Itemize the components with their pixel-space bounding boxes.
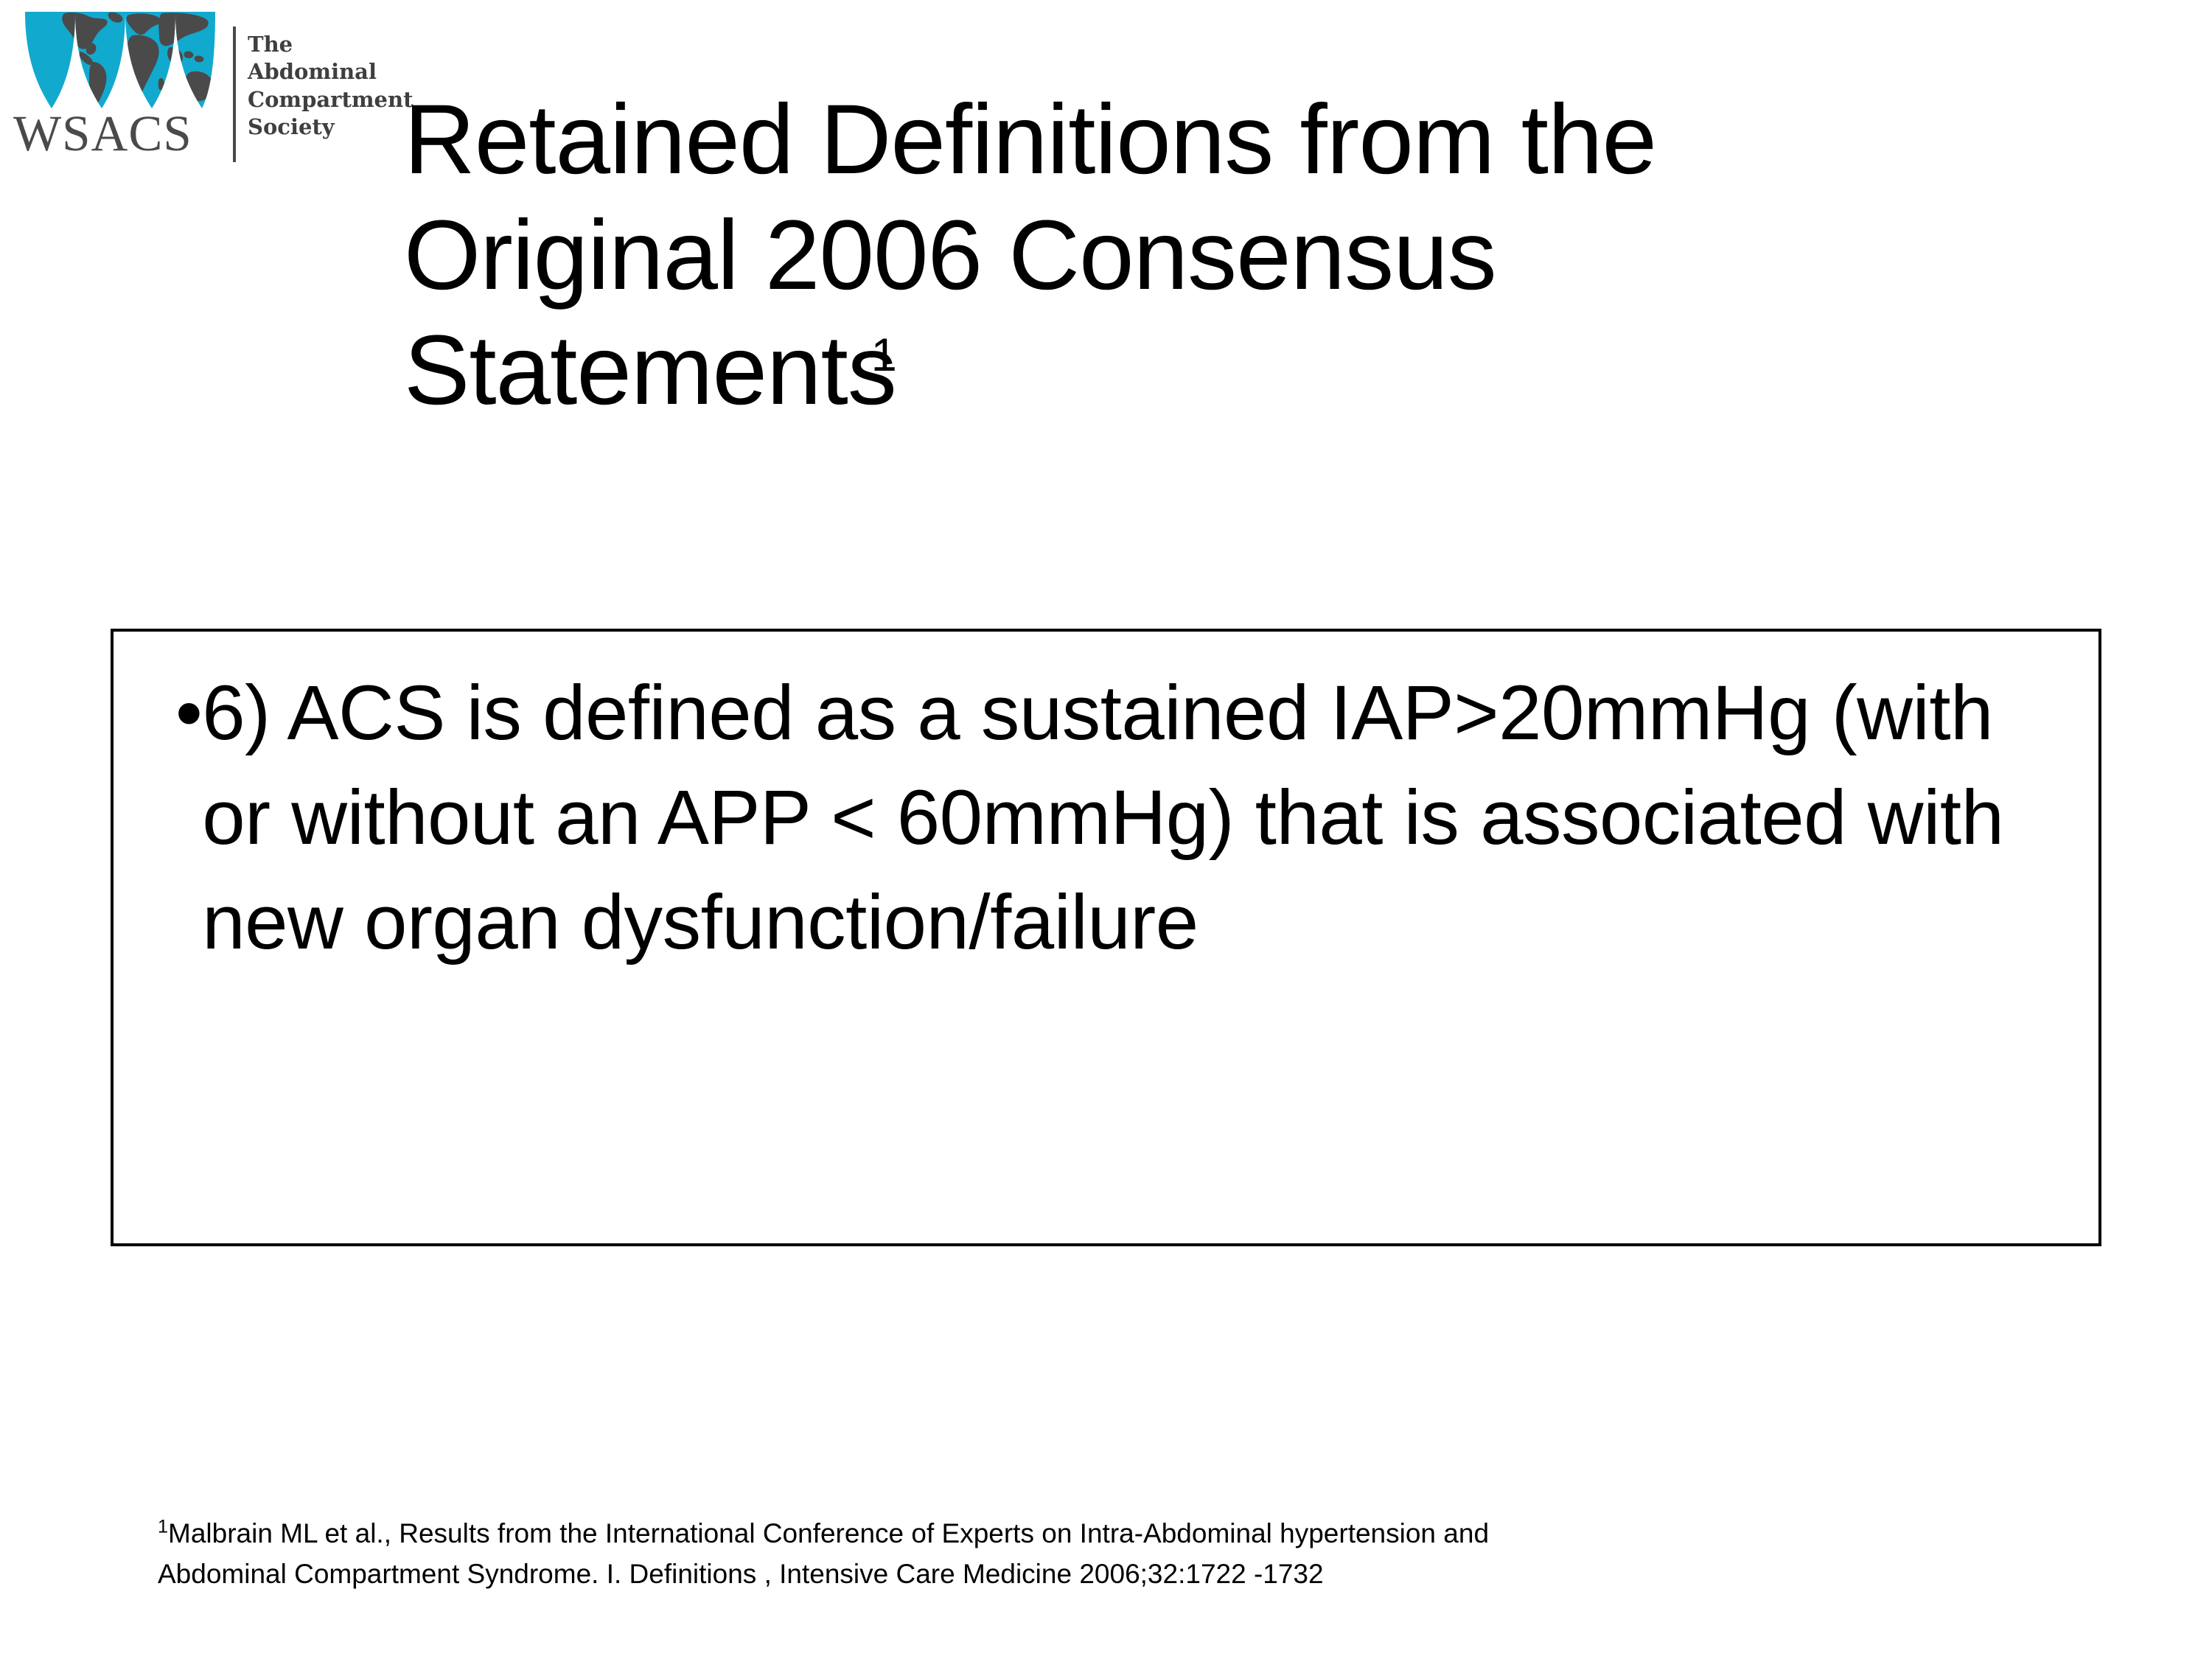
slide-title-footnote-marker: 1 — [871, 329, 896, 381]
logo-divider — [233, 27, 236, 162]
content-box: • 6) ACS is defined as a sustained IAP>2… — [111, 629, 2101, 1246]
logo-tagline-line-2: Abdominal — [248, 58, 395, 85]
footnote-line-1: 1Malbrain ML et al., Results from the In… — [158, 1514, 2104, 1554]
logo-tagline-line-3: Compartment — [248, 86, 395, 113]
logo-mark: WSACS — [13, 10, 223, 169]
footnote-line-2: Abdominal Compartment Syndrome. I. Defin… — [158, 1554, 2104, 1595]
globe-icon — [22, 10, 217, 110]
logo-wordmark: WSACS — [13, 108, 223, 159]
slide-title: Retained Definitions from the Original 2… — [404, 83, 2084, 429]
slide-title-line-2: Original 2006 Consensus — [404, 198, 2084, 314]
logo-tagline-line-1: The — [248, 31, 395, 58]
footnote-marker: 1 — [158, 1517, 168, 1537]
content-bullet-list: • 6) ACS is defined as a sustained IAP>2… — [175, 661, 2062, 974]
slide-title-line-3-text: Statements — [404, 315, 896, 425]
list-item-text: 6) ACS is defined as a sustained IAP>20m… — [202, 661, 2062, 974]
slide-title-line-1: Retained Definitions from the — [404, 83, 2084, 198]
list-item: • 6) ACS is defined as a sustained IAP>2… — [175, 661, 2062, 974]
slide-title-line-3: Statements1 — [404, 313, 2084, 429]
logo-tagline-line-4: Society — [248, 113, 395, 141]
logo-tagline: The Abdominal Compartment Society — [248, 31, 395, 142]
wsacs-logo: WSACS The Abdominal Compartment Society — [7, 10, 391, 169]
footnote-line-1-text: Malbrain ML et al., Results from the Int… — [168, 1518, 1489, 1548]
footnote-citation: 1Malbrain ML et al., Results from the In… — [158, 1514, 2104, 1595]
bullet-point-icon: • — [175, 661, 202, 766]
